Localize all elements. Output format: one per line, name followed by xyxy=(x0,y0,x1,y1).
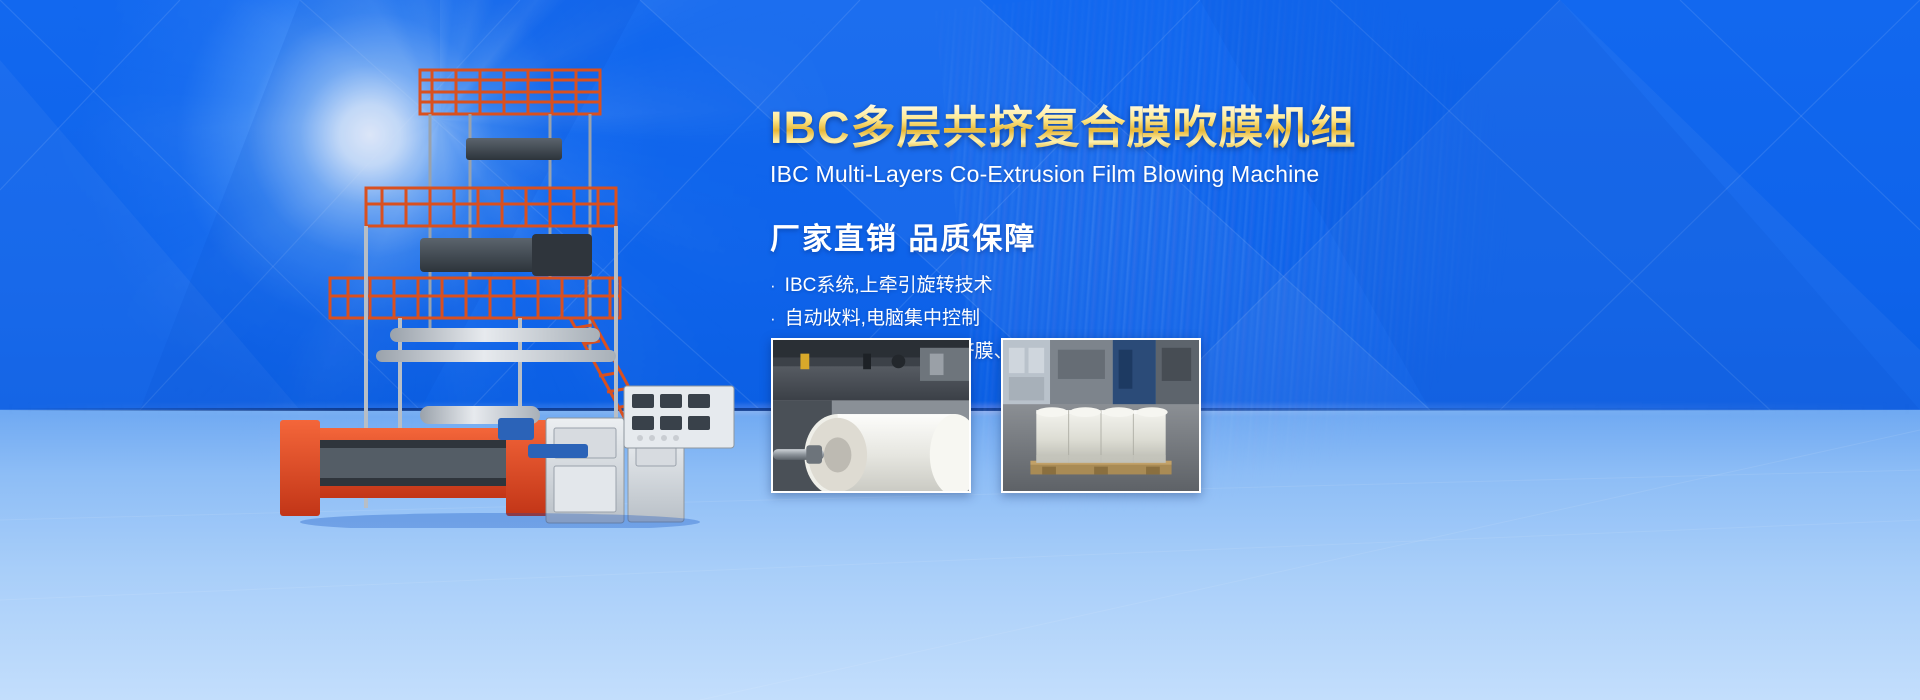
banner-copy: IBC多层共挤复合膜吹膜机组 IBC Multi-Layers Co-Extru… xyxy=(770,104,1530,375)
hero-banner: IBC多层共挤复合膜吹膜机组 IBC Multi-Layers Co-Extru… xyxy=(0,0,1920,700)
tagline: 厂家直销 品质保障 xyxy=(770,214,1530,258)
list-item: · IBC系统,上牵引旋转技术 xyxy=(770,276,1530,295)
film-roll-photo xyxy=(771,338,971,493)
page-title: IBC多层共挤复合膜吹膜机组 xyxy=(770,104,1530,152)
bullet-dot-icon: · xyxy=(770,310,776,327)
list-item: · 自动收料,电脑集中控制 xyxy=(770,309,1530,328)
list-item-label: IBC系统,上牵引旋转技术 xyxy=(785,276,993,295)
product-photo-gallery xyxy=(771,338,1201,493)
stacked-film-rolls-photo xyxy=(1001,338,1201,493)
list-item-label: 自动收料,电脑集中控制 xyxy=(785,309,980,328)
page-subtitle: IBC Multi-Layers Co-Extrusion Film Blowi… xyxy=(770,161,1530,188)
film-blowing-machine-illustration xyxy=(270,28,740,528)
bullet-dot-icon: · xyxy=(770,277,776,294)
